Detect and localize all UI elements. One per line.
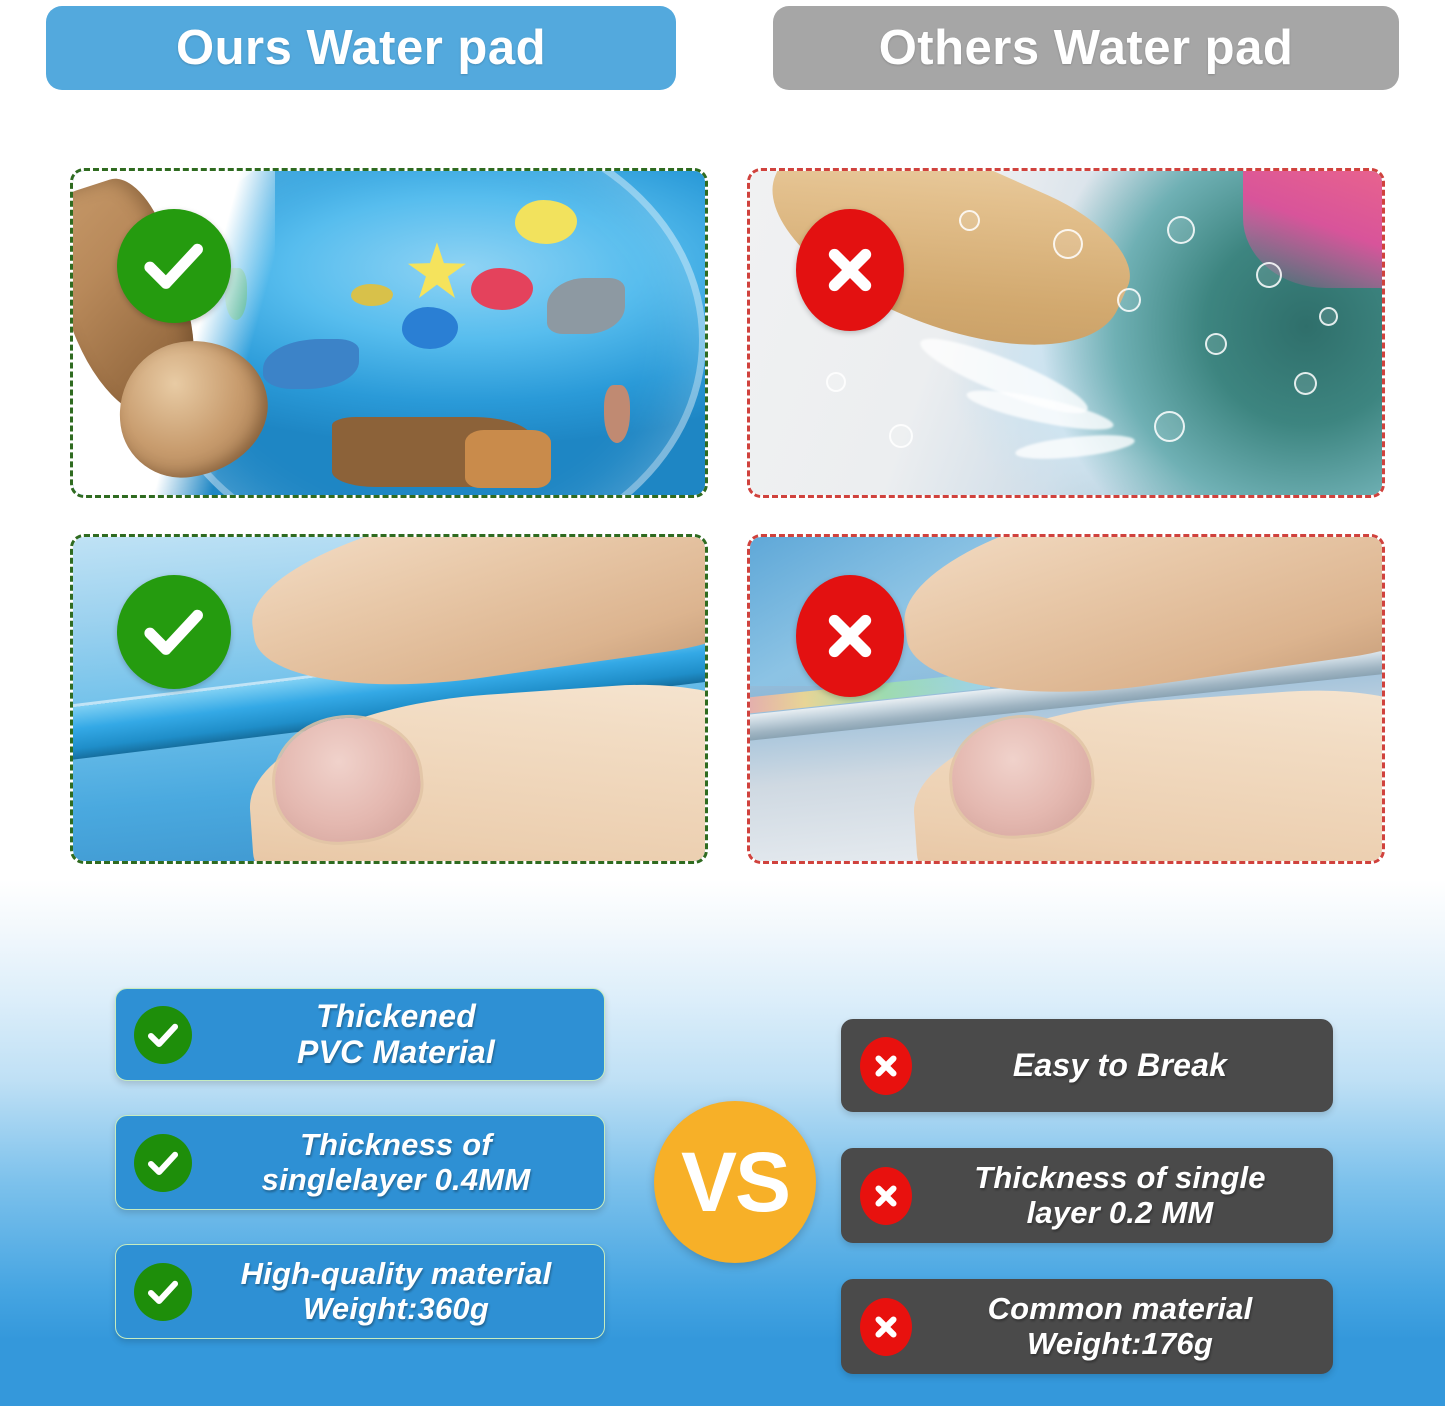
- check-icon: [117, 575, 231, 689]
- bubble-shape: [1205, 333, 1227, 355]
- banner-others: Others Water pad: [773, 6, 1399, 90]
- cross-icon: [860, 1037, 912, 1095]
- bubble-shape: [959, 210, 980, 231]
- feature-item-ours: Thickness of singlelayer 0.4MM: [115, 1115, 605, 1210]
- banner-ours: Ours Water pad: [46, 6, 676, 90]
- features-others: Easy to Break Thickness of single layer …: [841, 1019, 1333, 1406]
- bubble-shape: [826, 372, 846, 392]
- cross-icon: [860, 1167, 912, 1225]
- bubble-shape: [1256, 262, 1282, 288]
- feature-item-others: Common material Weight:176g: [841, 1279, 1333, 1374]
- feature-item-ours: Thickened PVC Material: [115, 988, 605, 1081]
- check-icon: [117, 209, 231, 323]
- feature-label: High-quality material Weight:360g: [204, 1257, 594, 1326]
- photo-others-durability-image: [750, 171, 1382, 495]
- feature-label: Thickness of singlelayer 0.4MM: [204, 1128, 594, 1197]
- banner-others-label: Others Water pad: [879, 20, 1294, 76]
- banner-ours-label: Ours Water pad: [176, 20, 546, 76]
- photo-ours-durability: [70, 168, 708, 498]
- treasure-chest-shape: [465, 430, 551, 488]
- bubble-shape: [1117, 288, 1141, 312]
- features-ours: Thickened PVC Material Thickness of sing…: [115, 988, 605, 1373]
- feature-label: Common material Weight:176g: [924, 1292, 1322, 1361]
- feature-label: Thickness of single layer 0.2 MM: [924, 1161, 1322, 1230]
- feature-item-others: Thickness of single layer 0.2 MM: [841, 1148, 1333, 1243]
- bubble-shape: [1319, 307, 1338, 326]
- feature-label: Easy to Break: [924, 1048, 1322, 1084]
- bubble-shape: [1294, 372, 1317, 395]
- check-icon: [134, 1134, 192, 1192]
- check-icon: [134, 1006, 192, 1064]
- photo-ours-durability-image: [73, 171, 705, 495]
- bubble-shape: [1154, 411, 1185, 442]
- cross-icon: [796, 575, 904, 697]
- comparison-infographic: Ours Water pad Others Water pad: [0, 0, 1445, 1406]
- check-icon: [134, 1263, 192, 1321]
- vs-badge: VS: [654, 1101, 816, 1263]
- cross-icon: [796, 209, 904, 331]
- photo-ours-thickness: [70, 534, 708, 864]
- feature-item-others: Easy to Break: [841, 1019, 1333, 1112]
- feature-item-ours: High-quality material Weight:360g: [115, 1244, 605, 1339]
- vs-label: VS: [681, 1134, 789, 1231]
- bubble-shape: [889, 424, 913, 448]
- photo-ours-thickness-image: [73, 537, 705, 861]
- photo-others-thickness: [747, 534, 1385, 864]
- photo-others-durability: [747, 168, 1385, 498]
- seahorse-shape: [604, 385, 630, 443]
- stingray-shape: [547, 278, 625, 334]
- feature-label: Thickened PVC Material: [204, 999, 594, 1071]
- cross-icon: [860, 1298, 912, 1356]
- photo-others-thickness-image: [750, 537, 1382, 861]
- blue-fish-shape: [402, 307, 458, 349]
